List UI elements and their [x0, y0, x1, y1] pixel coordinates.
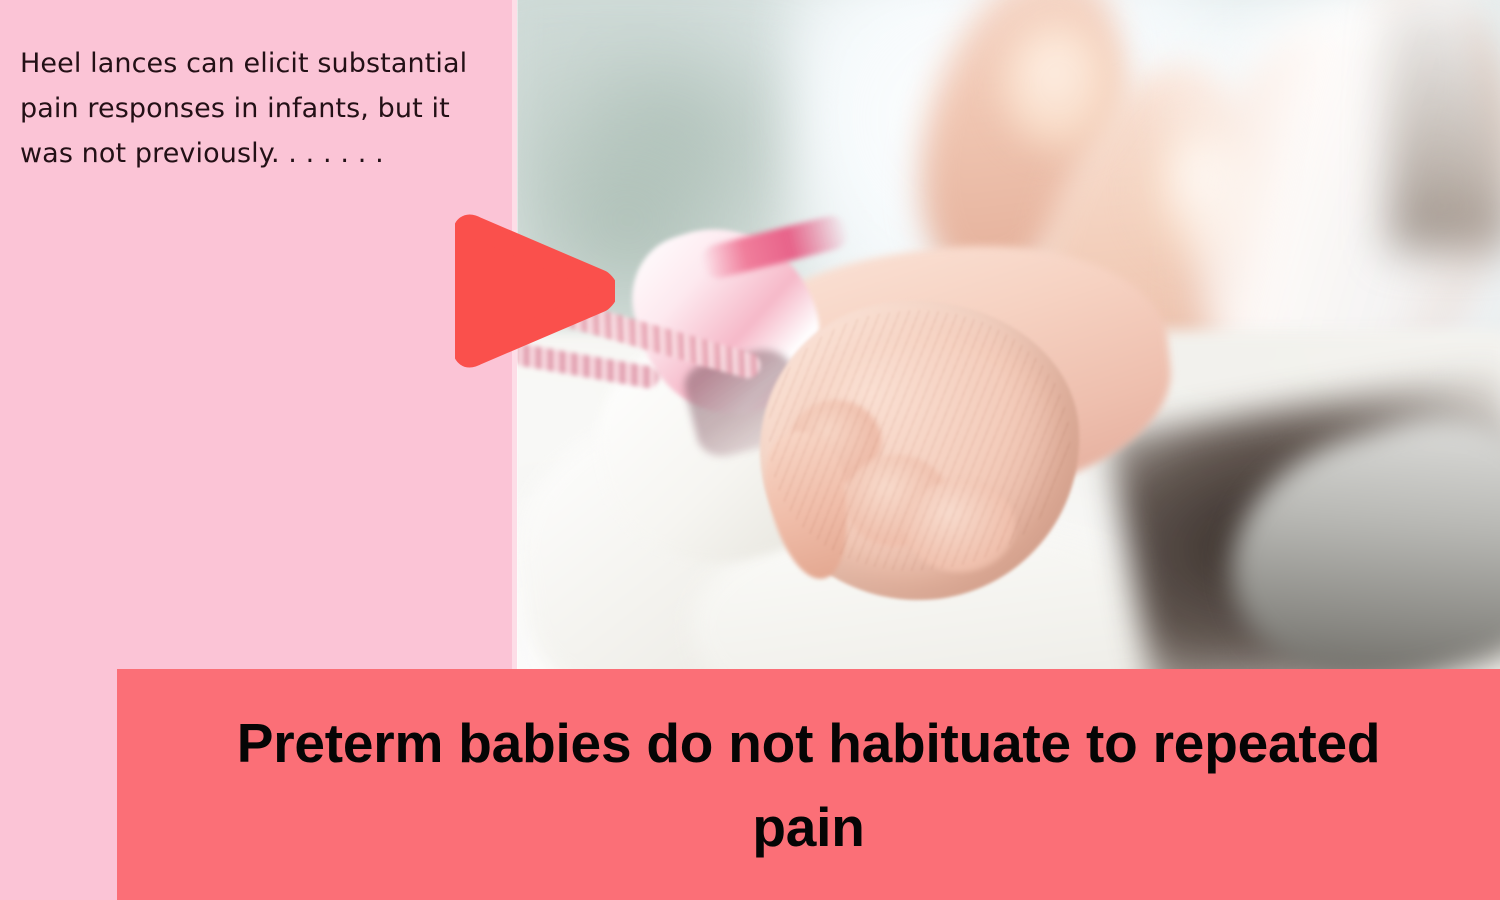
headline-bar: Preterm babies do not habituate to repea…: [117, 669, 1500, 900]
news-card: Heel lances can elicit substantial pain …: [0, 0, 1500, 900]
play-triangle-icon: [455, 208, 615, 373]
right-edge-shadow: [1390, 0, 1500, 250]
play-button[interactable]: [455, 208, 615, 373]
article-excerpt: Heel lances can elicit substantial pain …: [20, 41, 498, 176]
adult-fingernail-1: [1000, 20, 1120, 150]
article-headline: Preterm babies do not habituate to repea…: [174, 701, 1444, 869]
